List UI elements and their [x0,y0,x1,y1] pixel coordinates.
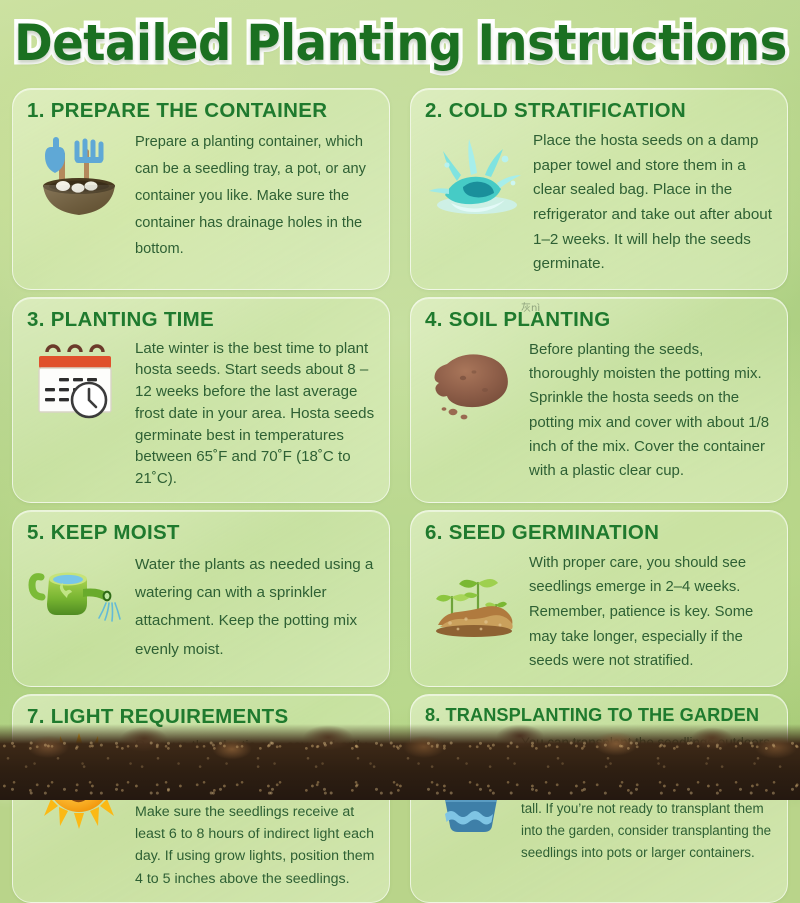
card-body: Prepare a planting container, which can … [27,127,377,263]
card-heading-wrap: 1. PREPARE THE CONTAINER [27,99,377,123]
card-heading-wrap: 5. KEEP MOIST [27,521,377,545]
card-heading: 3. PLANTING TIME [27,308,377,332]
card-heading: 6. SEED GERMINATION [425,521,775,545]
card-heading: 4. SOIL PLANTING [425,308,775,332]
card-prepare-the-container[interactable]: 1. PREPARE THE CONTAINER [12,88,390,290]
card-heading-wrap: 3. PLANTING TIME [27,308,377,332]
card-cold-stratification[interactable]: 2. COLD STRATIFICATION [410,88,788,290]
card-heading-wrap: 6. SEED GERMINATION [425,521,775,545]
sprouting-seedlings-icon [425,549,525,645]
card-heading: 1. PREPARE THE CONTAINER [27,99,377,123]
card-soil-planting[interactable]: 4. SOIL PLANTING 灰nì Before planti [410,297,788,503]
card-seed-germination[interactable]: 6. SEED GERMINATION [410,510,788,687]
card-heading-wrap: 4. SOIL PLANTING 灰nì [425,308,775,332]
card-body: With proper care, you should see seedlin… [425,549,775,674]
page-title-banner: Detailed Planting Instructions [0,0,800,86]
card-text: Water the plants as needed using a water… [135,549,377,664]
card-body: Late winter is the best time to plant ho… [27,336,377,490]
calendar-clock-icon [27,336,131,432]
card-heading: 2. COLD STRATIFICATION [425,99,775,123]
pot-with-shovel-and-rake-icon [27,127,131,223]
card-text: Place the hosta seeds on a damp paper to… [533,127,775,277]
water-splash-icon [425,127,529,223]
card-text: Before planting the seeds, thoroughly mo… [529,336,775,484]
card-heading-wrap: 2. COLD STRATIFICATION [425,99,775,123]
card-body: Water the plants as needed using a water… [27,549,377,664]
card-heading-wrap: 8. TRANSPLANTING TO THE GARDEN [425,705,775,726]
card-heading: 5. KEEP MOIST [27,521,377,545]
card-planting-time[interactable]: 3. PLANTING TIME [12,297,390,503]
card-keep-moist[interactable]: 5. KEEP MOIST [12,510,390,687]
watering-can-icon [27,549,131,645]
page-title: Detailed Planting Instructions [14,14,787,72]
card-body: Before planting the seeds, thoroughly mo… [425,336,775,484]
card-text: Late winter is the best time to plant ho… [135,336,377,490]
soil-texture [0,724,800,800]
card-text: Prepare a planting container, which can … [135,127,377,263]
card-heading: 8. TRANSPLANTING TO THE GARDEN [425,705,775,726]
soil-strip [0,724,800,800]
card-body: Place the hosta seeds on a damp paper to… [425,127,775,277]
card-text: With proper care, you should see seedlin… [529,549,775,674]
soil-mound-icon [425,336,525,432]
